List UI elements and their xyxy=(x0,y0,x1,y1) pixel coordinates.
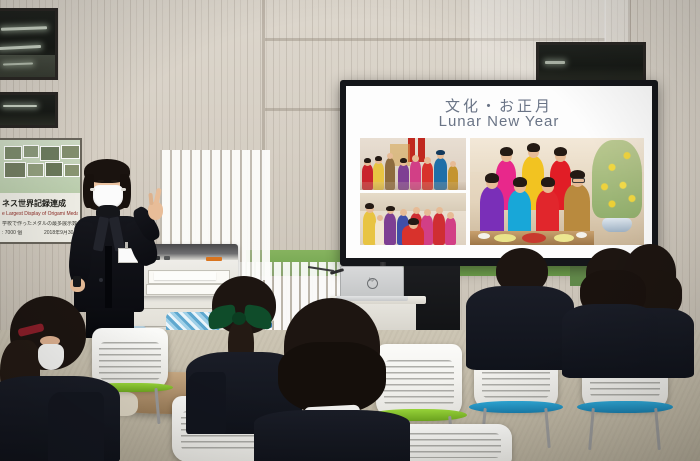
display-screen: 文化・お正月 Lunar New Year xyxy=(346,86,652,258)
hp-laptop[interactable] xyxy=(340,266,404,300)
mask-strap xyxy=(121,188,126,191)
hp-logo-icon xyxy=(367,278,378,289)
presenter-eye xyxy=(111,180,117,182)
badge-clip xyxy=(125,242,128,249)
mask-strap xyxy=(90,188,95,191)
slide-photo-family-portrait xyxy=(470,138,644,245)
hair-bow-knot xyxy=(232,312,246,325)
window-upper-left xyxy=(0,8,58,80)
presenter-eye xyxy=(98,180,104,182)
slide-photo-family-gathering xyxy=(360,193,466,245)
chair[interactable] xyxy=(392,424,512,461)
apricot-blossom-tree xyxy=(592,140,642,218)
student-right-front xyxy=(556,248,660,368)
student-center-front xyxy=(262,298,402,461)
window-lower-left xyxy=(0,92,58,128)
shoulder xyxy=(186,372,226,434)
shoulder xyxy=(48,392,104,461)
ceramic-pot xyxy=(602,218,632,232)
wall-mounted-display[interactable]: 文化・お正月 Lunar New Year xyxy=(340,80,658,266)
finger xyxy=(148,193,153,205)
presentation-clicker[interactable] xyxy=(73,276,81,287)
slide-photo-tet-market xyxy=(360,138,466,190)
classroom-presentation-photo: ネス世界記録連成 e Largest Display of Origami Me… xyxy=(0,0,700,461)
jacket-button xyxy=(99,278,103,282)
presentation-slide: 文化・お正月 Lunar New Year xyxy=(346,86,652,258)
poster-count: : 7000 個 xyxy=(2,230,36,236)
face-mask xyxy=(38,344,64,370)
student-front-left xyxy=(0,296,122,461)
slide-title-english: Lunar New Year xyxy=(346,113,652,130)
